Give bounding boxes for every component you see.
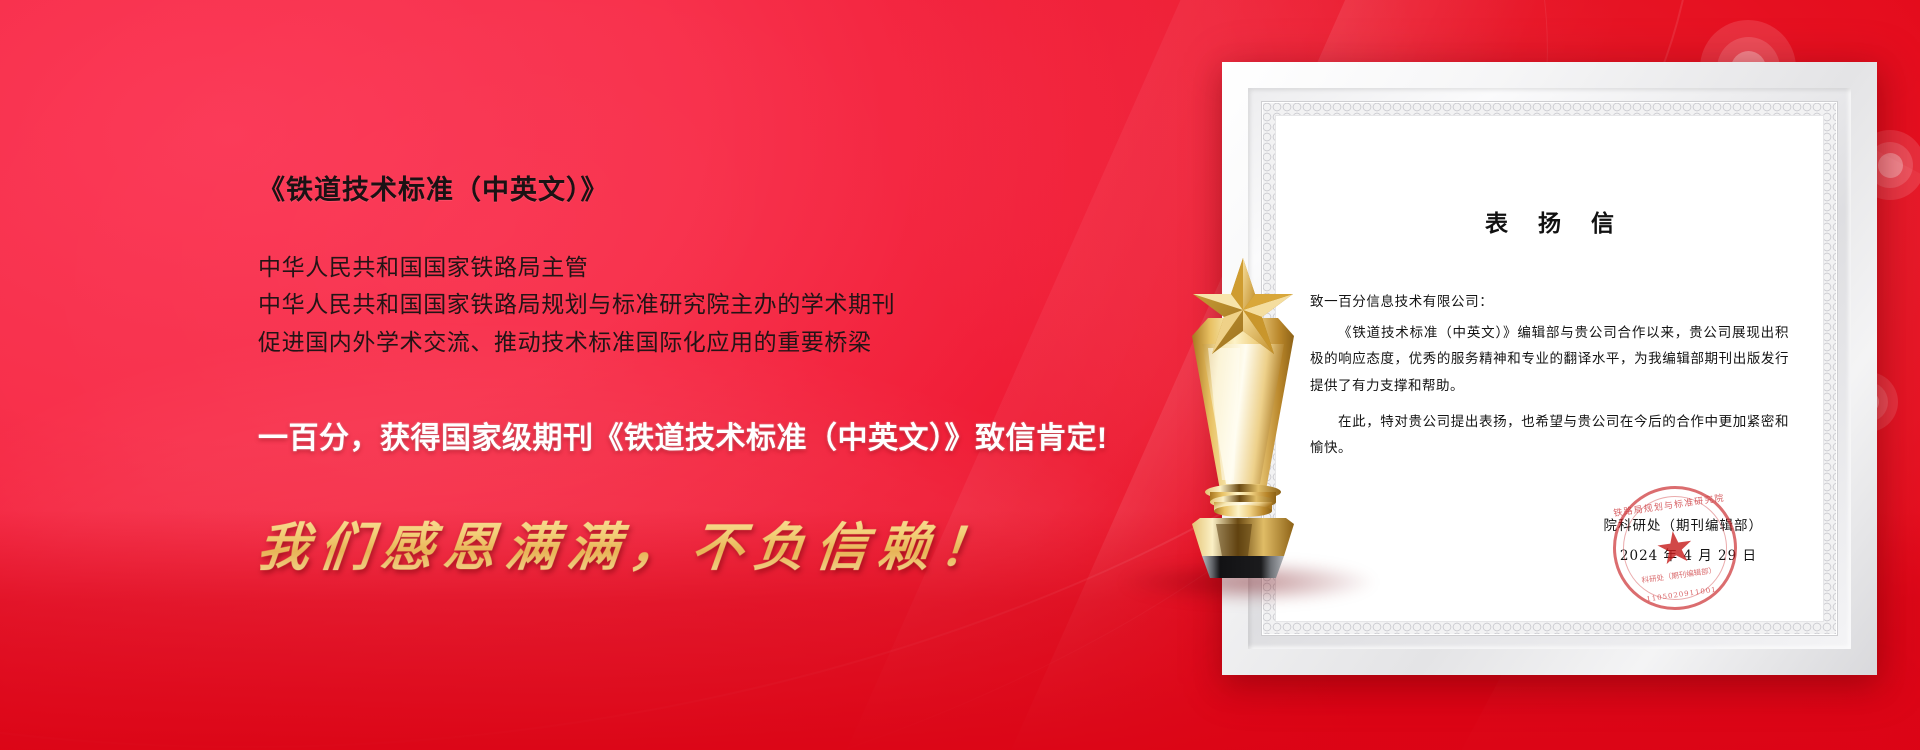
certificate-paper: 表 扬 信 致一百分信息技术有限公司： 《铁道技术标准（中英文）》编辑部与贵公司… <box>1276 116 1823 621</box>
certificate-signature-block: 铁路局规划与标准研究院 科研处（期刊编辑部） 1105020911001 院科研… <box>1310 514 1789 564</box>
journal-title: 《铁道技术标准（中英文）》 <box>258 168 1198 207</box>
certificate-paragraph: 在此，特对贵公司提出表扬，也希望与贵公司在今后的合作中更加紧密和愉快。 <box>1310 409 1789 462</box>
award-banner: 《铁道技术标准（中英文）》 中华人民共和国国家铁路局主管 中华人民共和国国家铁路… <box>0 0 1920 750</box>
journal-description-line: 中华人民共和国国家铁路局规划与标准研究院主办的学术期刊 <box>258 286 1198 323</box>
certificate-frame-liner: 表 扬 信 致一百分信息技术有限公司： 《铁道技术标准（中英文）》编辑部与贵公司… <box>1261 101 1838 636</box>
journal-description-line: 中华人民共和国国家铁路局主管 <box>258 249 1198 286</box>
official-seal: 铁路局规划与标准研究院 科研处（期刊编辑部） 1105020911001 <box>1605 478 1745 618</box>
trophy-icon <box>1148 252 1338 582</box>
award-headline: 一百分，获得国家级期刊《铁道技术标准（中英文）》致信肯定! <box>258 413 1198 457</box>
journal-description-line: 促进国内外学术交流、推动技术标准国际化应用的重要桥梁 <box>258 324 1198 361</box>
certificate-paragraph: 《铁道技术标准（中英文）》编辑部与贵公司合作以来，贵公司展现出积极的响应态度，优… <box>1310 320 1789 399</box>
journal-description-list: 中华人民共和国国家铁路局主管 中华人民共和国国家铁路局规划与标准研究院主办的学术… <box>258 249 1198 361</box>
certificate-title: 表 扬 信 <box>1310 204 1789 238</box>
gold-star-trophy <box>1148 252 1338 582</box>
gratitude-calligraphy: 我们感恩满满，不负信赖！ <box>254 505 1202 580</box>
copy-block: 《铁道技术标准（中英文）》 中华人民共和国国家铁路局主管 中华人民共和国国家铁路… <box>258 168 1198 580</box>
certificate-greeting: 致一百分信息技术有限公司： <box>1310 290 1789 310</box>
